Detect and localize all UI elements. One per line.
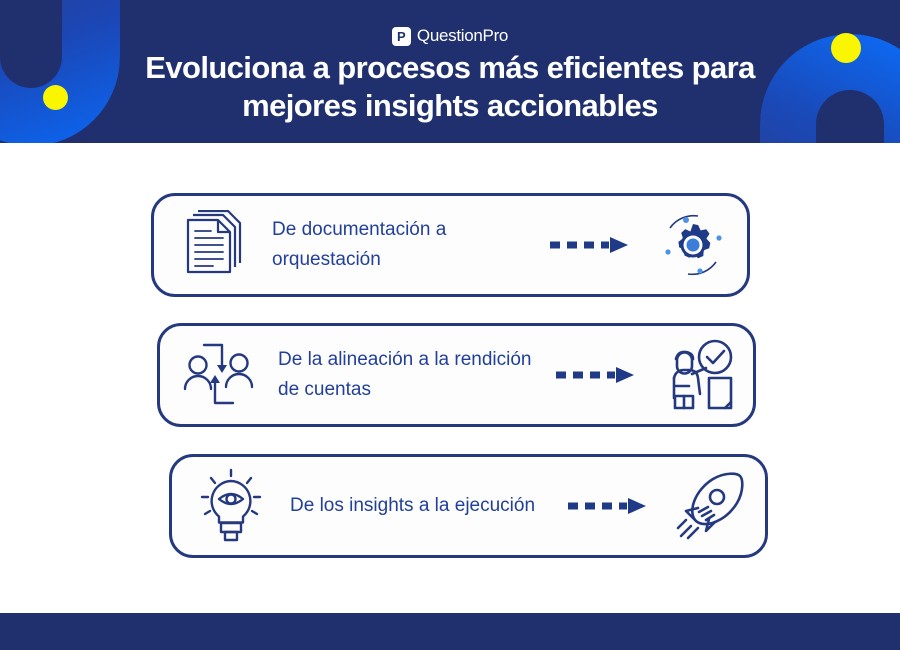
brand-name: QuestionPro (417, 26, 508, 46)
cards-container: De documentación a orquestación (0, 143, 900, 613)
header-banner: P QuestionPro Evoluciona a procesos más … (0, 0, 900, 143)
page-title: Evoluciona a procesos más eficientes par… (90, 49, 810, 125)
questionpro-logo-icon: P (392, 27, 411, 46)
card-label: De documentación a orquestación (272, 215, 539, 275)
card-label: De los insights a la ejecución (290, 491, 557, 521)
lightbulb-eye-icon (172, 468, 290, 544)
dashed-arrow-right-icon (545, 365, 645, 385)
card-row-alignment[interactable]: De la alineación a la rendición de cuent… (157, 323, 756, 427)
brand-logo: P QuestionPro (0, 26, 900, 46)
rocket-icon (657, 468, 765, 544)
gear-automation-icon (639, 208, 747, 282)
card-row-documentation[interactable]: De documentación a orquestación (151, 193, 750, 297)
documents-icon (154, 210, 272, 280)
card-label: De la alineación a la rendición de cuent… (278, 345, 545, 405)
people-exchange-icon (160, 339, 278, 411)
dashed-arrow-right-icon (539, 235, 639, 255)
card-row-insights[interactable]: De los insights a la ejecución (169, 454, 768, 558)
yellow-dot-left-icon (43, 85, 68, 110)
footer-bar (0, 613, 900, 650)
person-checkmark-icon (645, 338, 753, 412)
dashed-arrow-right-icon (557, 496, 657, 516)
